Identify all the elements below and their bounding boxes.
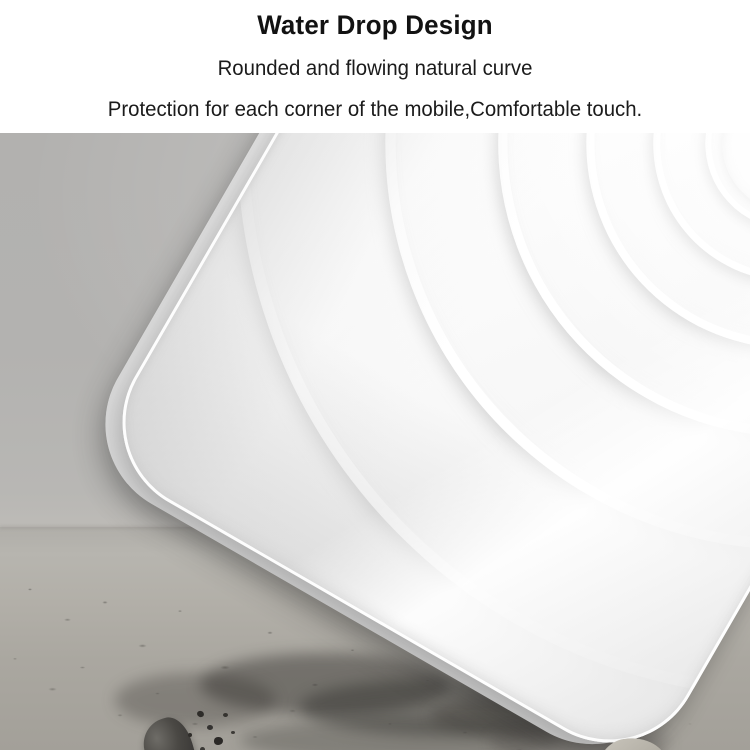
pebble <box>207 725 213 730</box>
page-title: Water Drop Design <box>15 10 735 41</box>
pebble <box>231 731 235 734</box>
subtitle-line-2: Protection for each corner of the mobile… <box>11 98 739 122</box>
pebble <box>223 713 228 717</box>
product-photo <box>0 133 750 750</box>
subtitle-line-1: Rounded and flowing natural curve <box>11 57 739 81</box>
dust-cloud <box>115 673 275 727</box>
pebble <box>188 733 192 737</box>
product-feature-page: Water Drop Design Rounded and flowing na… <box>0 0 750 750</box>
pebble <box>214 737 223 745</box>
header-text-block: Water Drop Design Rounded and flowing na… <box>0 0 750 133</box>
